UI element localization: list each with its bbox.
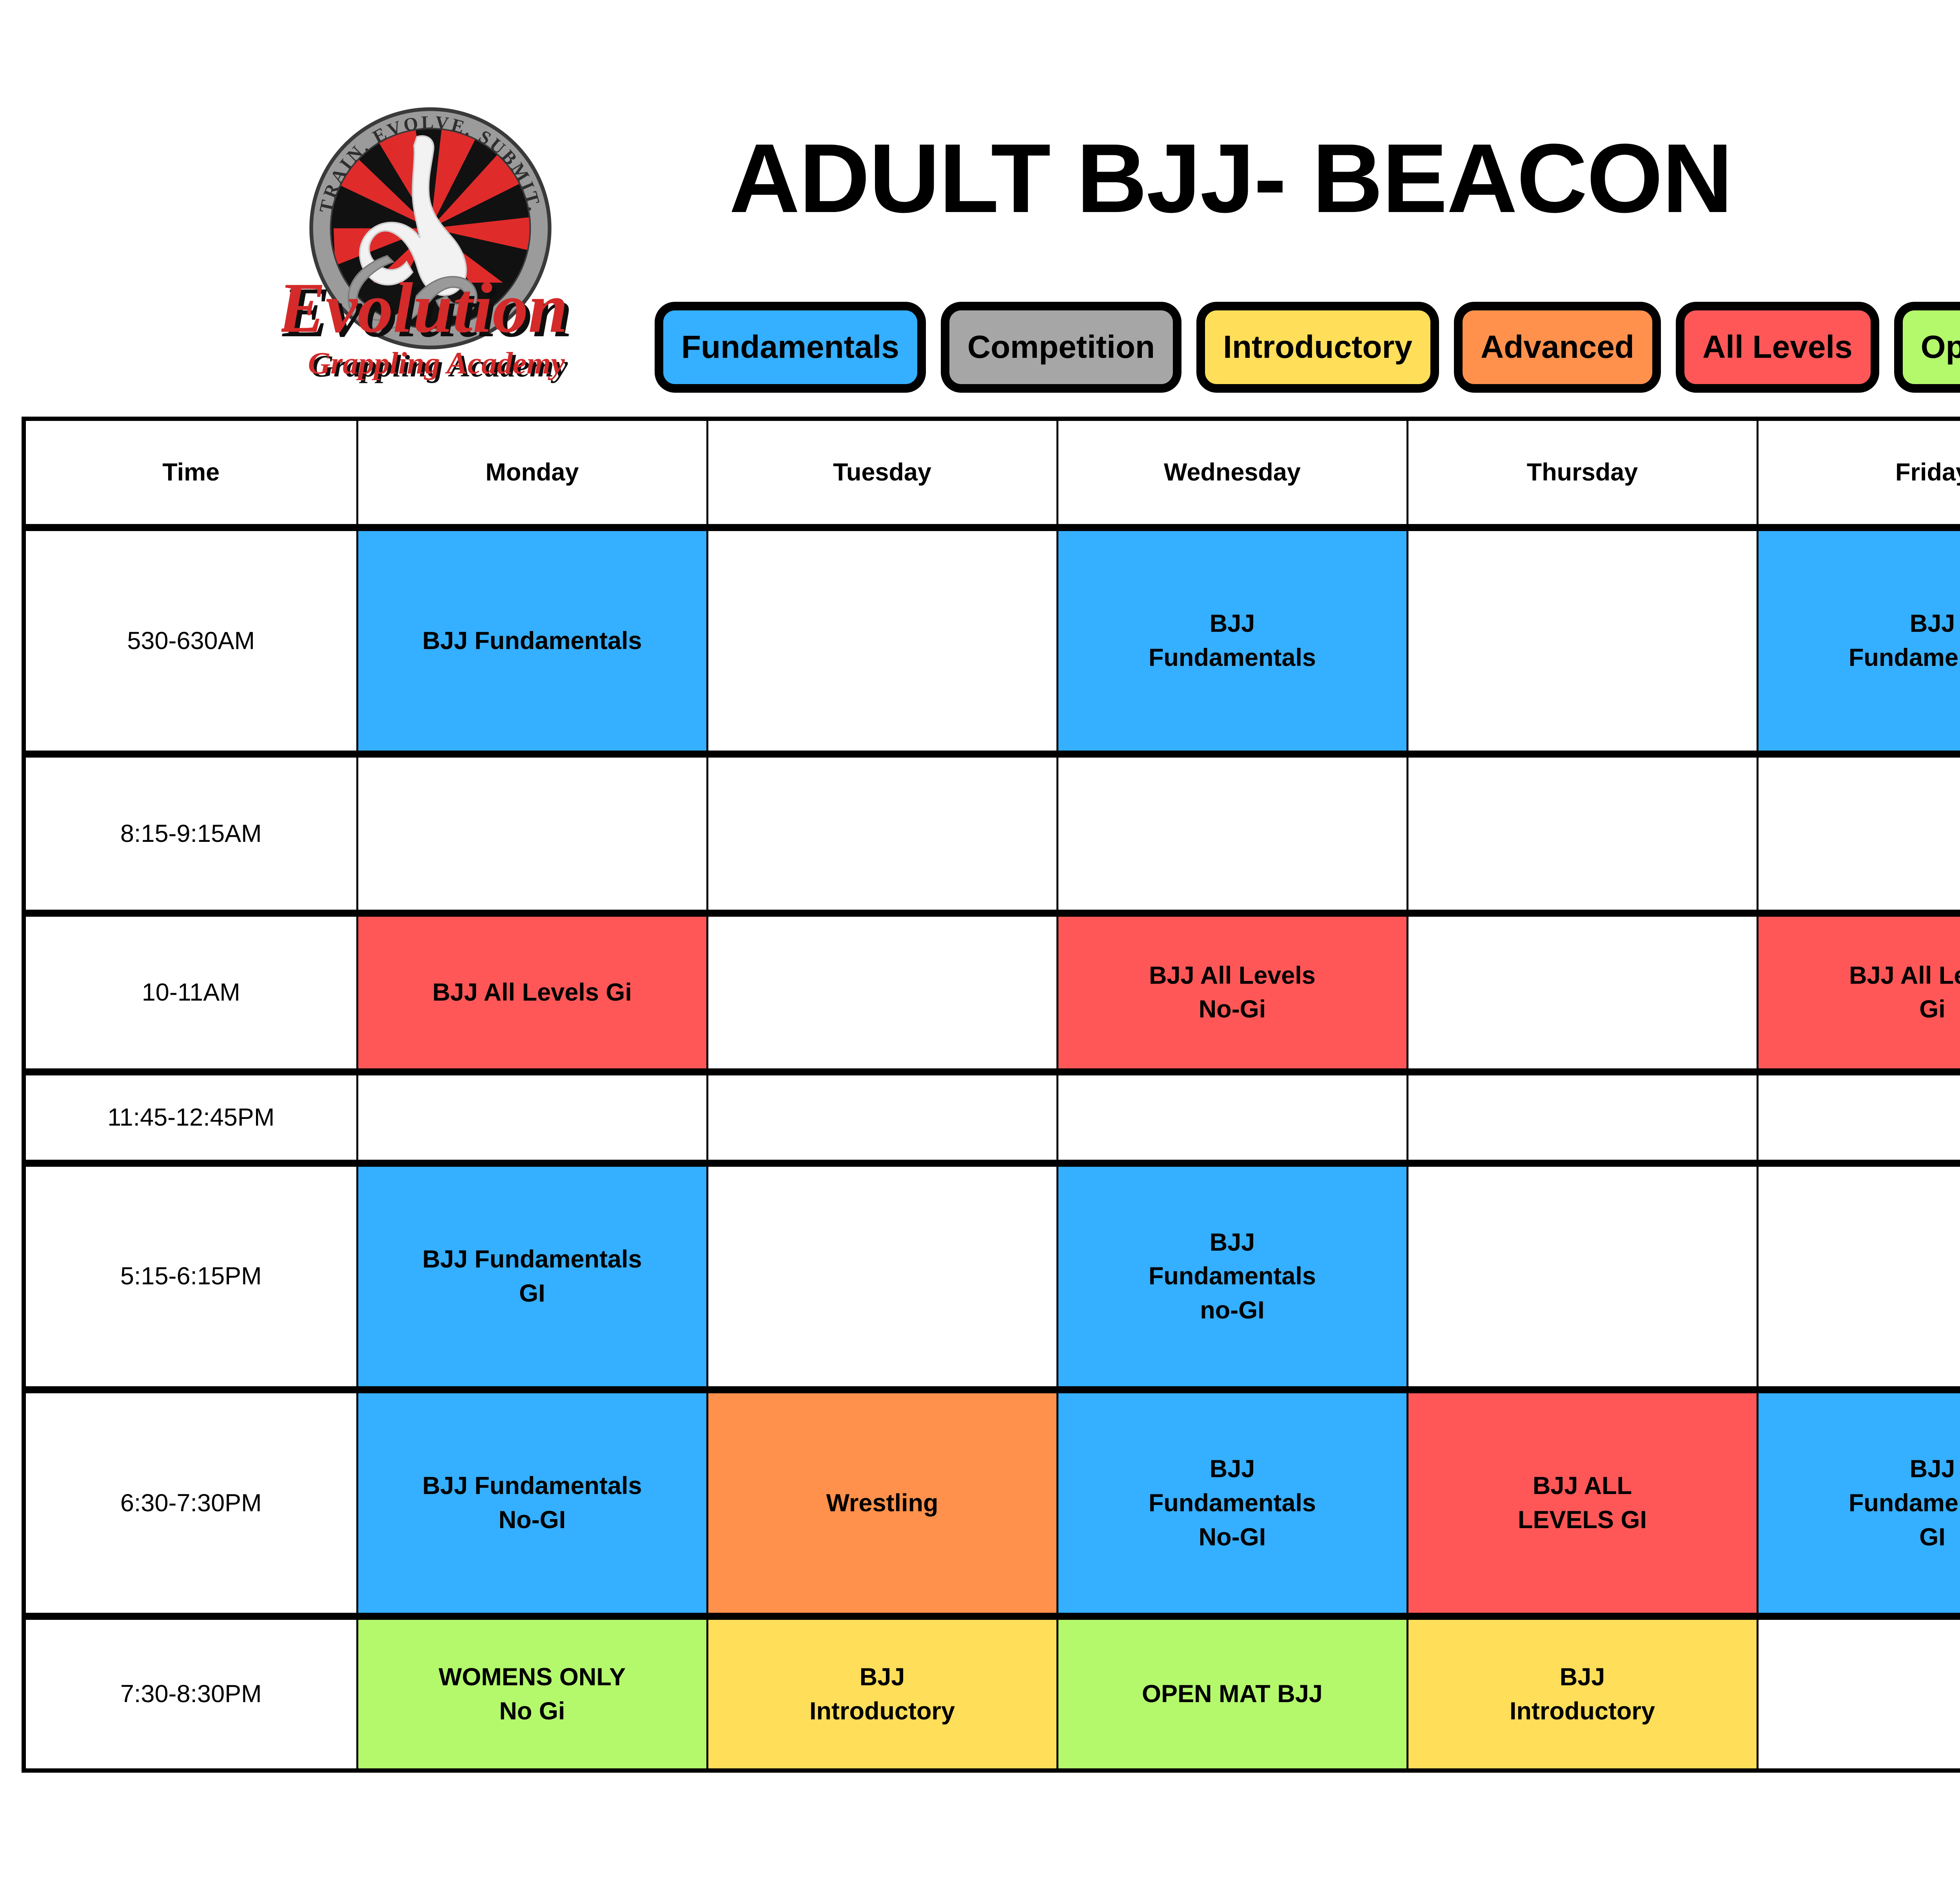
time-slot-label: 530-630AM — [26, 528, 357, 754]
column-header-monday: Monday — [357, 421, 707, 528]
schedule-row: 10-11AMBJJ All Levels GiBJJ All LevelsNo… — [26, 913, 1960, 1072]
class-cell-line: Wrestling — [712, 1486, 1053, 1520]
academy-logo: TRAIN. EVOLVE. SUBMIT. Evolution Evoluti… — [281, 90, 579, 404]
schedule-row: 5:15-6:15PMBJJ FundamentalsGIBJJFundamen… — [26, 1163, 1960, 1390]
class-cell-text: BJJ ALLLEVELS GI — [1412, 1469, 1753, 1537]
legend-pill-label: Competition — [967, 329, 1155, 366]
class-cell-line: GI — [1762, 1520, 1960, 1554]
class-cell-text: BJJ FundamentalsGI — [362, 1242, 702, 1311]
empty-cell — [357, 1072, 707, 1163]
class-cell[interactable]: BJJIntroductory — [1407, 1616, 1757, 1768]
time-slot-label: 7:30-8:30PM — [26, 1616, 357, 1768]
empty-cell — [707, 913, 1057, 1072]
class-cell-text: BJJFundamentalsNo-GI — [1062, 1452, 1403, 1554]
empty-cell — [1407, 1072, 1757, 1163]
class-cell-line: BJJ — [1762, 1452, 1960, 1486]
class-cell-text: BJJFundamentalsGI — [1762, 1452, 1960, 1554]
legend-pill-all-levels[interactable]: All Levels — [1676, 302, 1879, 393]
time-slot-label: 10-11AM — [26, 913, 357, 1072]
time-slot-label: 5:15-6:15PM — [26, 1163, 357, 1390]
column-header-friday: Friday — [1757, 421, 1960, 528]
table-header: TimeMondayTuesdayWednesdayThursdayFriday… — [26, 421, 1960, 528]
empty-cell — [1757, 754, 1960, 913]
time-slot-label: 6:30-7:30PM — [26, 1390, 357, 1616]
class-cell[interactable]: BJJFundamentalsno-GI — [1057, 1163, 1407, 1390]
legend-pill-fundamentals[interactable]: Fundamentals — [655, 302, 926, 393]
class-cell[interactable]: WOMENS ONLYNo Gi — [357, 1616, 707, 1768]
legend-pill-introductory[interactable]: Introductory — [1196, 302, 1439, 393]
class-cell-line: No-Gi — [1062, 992, 1403, 1026]
class-cell-line: Fundamentals — [1062, 641, 1403, 675]
class-cell-line: BJJ Fundamentals — [362, 1469, 702, 1503]
class-cell-line: BJJ — [1062, 1452, 1403, 1486]
class-cell[interactable]: BJJ FundamentalsNo-GI — [357, 1390, 707, 1616]
class-cell-line: BJJ All Levels — [1762, 959, 1960, 993]
class-cell-text: BJJFundamentalsno-GI — [1062, 1226, 1403, 1328]
class-cell-line: BJJ ALL — [1412, 1469, 1753, 1503]
class-cell[interactable]: BJJFundamentals — [1057, 528, 1407, 754]
class-cell-line: no-GI — [1062, 1293, 1403, 1327]
empty-cell — [1407, 1163, 1757, 1390]
column-header-tuesday: Tuesday — [707, 421, 1057, 528]
class-cell-text: BJJFundamentals — [1062, 607, 1403, 675]
empty-cell — [1757, 1616, 1960, 1768]
class-type-legend: FundamentalsCompetitionIntroductoryAdvan… — [655, 302, 1960, 393]
empty-cell — [707, 528, 1057, 754]
class-cell[interactable]: BJJ All LevelsNo-Gi — [1057, 913, 1407, 1072]
page-header: TRAIN. EVOLVE. SUBMIT. Evolution Evoluti… — [0, 47, 1960, 372]
legend-pill-label: All Levels — [1702, 329, 1853, 366]
class-cell[interactable]: BJJ All Levels Gi — [357, 913, 707, 1072]
schedule-row: 530-630AMBJJ FundamentalsBJJFundamentals… — [26, 528, 1960, 754]
class-cell-line: BJJ Fundamentals — [362, 624, 702, 658]
empty-cell — [1057, 1072, 1407, 1163]
class-cell-line: BJJ — [1412, 1660, 1753, 1694]
legend-pill-open-mat[interactable]: Open Mat — [1894, 302, 1960, 393]
time-slot-label: 8:15-9:15AM — [26, 754, 357, 913]
class-cell-text: BJJFundamentals — [1762, 607, 1960, 675]
class-cell-line: Introductory — [712, 1694, 1053, 1728]
legend-pill-label: Open Mat — [1921, 329, 1960, 366]
schedule-page: TRAIN. EVOLVE. SUBMIT. Evolution Evoluti… — [0, 0, 1960, 1893]
class-cell-line: BJJ Fundamentals — [362, 1242, 702, 1277]
column-header-wednesday: Wednesday — [1057, 421, 1407, 528]
class-cell-text: BJJIntroductory — [712, 1660, 1053, 1728]
empty-cell — [707, 1163, 1057, 1390]
class-cell-line: BJJ All Levels Gi — [362, 976, 702, 1010]
class-cell[interactable]: BJJFundamentalsNo-GI — [1057, 1390, 1407, 1616]
svg-text:Grappling Academy: Grappling Academy — [308, 346, 565, 381]
class-cell-line: LEVELS GI — [1412, 1503, 1753, 1537]
empty-cell — [357, 754, 707, 913]
class-cell-line: WOMENS ONLY — [362, 1660, 702, 1694]
legend-pill-competition[interactable]: Competition — [941, 302, 1181, 393]
empty-cell — [1407, 754, 1757, 913]
class-cell-text: BJJ Fundamentals — [362, 624, 702, 658]
class-cell-line: GI — [362, 1277, 702, 1311]
page-title: ADULT BJJ- BEACON — [729, 125, 1960, 231]
schedule-row: 8:15-9:15AMWomens OnlyQ&A Open Mat — [26, 754, 1960, 913]
class-cell-line: Gi — [1762, 992, 1960, 1026]
class-cell-text: BJJ All Levels Gi — [362, 976, 702, 1010]
svg-text:Evolution: Evolution — [281, 268, 568, 348]
class-cell[interactable]: BJJIntroductory — [707, 1616, 1057, 1768]
class-cell-line: BJJ — [1062, 1226, 1403, 1260]
schedule-row: 6:30-7:30PMBJJ FundamentalsNo-GIWrestlin… — [26, 1390, 1960, 1616]
class-cell-text: BJJIntroductory — [1412, 1660, 1753, 1728]
class-cell-text: OPEN MAT BJJ — [1062, 1677, 1403, 1711]
schedule-table-container: TimeMondayTuesdayWednesdayThursdayFriday… — [22, 417, 1960, 1773]
legend-pill-label: Introductory — [1223, 329, 1412, 366]
empty-cell — [707, 754, 1057, 913]
class-cell-line: BJJ — [1062, 607, 1403, 641]
class-cell[interactable]: BJJFundamentals — [1757, 528, 1960, 754]
class-cell[interactable]: BJJFundamentalsGI — [1757, 1390, 1960, 1616]
time-slot-label: 11:45-12:45PM — [26, 1072, 357, 1163]
column-header-thursday: Thursday — [1407, 421, 1757, 528]
class-cell-line: BJJ — [1762, 607, 1960, 641]
class-cell-line: Fundamentals — [1762, 641, 1960, 675]
class-cell-text: WOMENS ONLYNo Gi — [362, 1660, 702, 1728]
empty-cell — [1057, 754, 1407, 913]
schedule-row: 11:45-12:45PMBJJ All Levels Gi — [26, 1072, 1960, 1163]
class-cell-line: BJJ — [712, 1660, 1053, 1694]
class-cell-line: Fundamentals — [1062, 1259, 1403, 1293]
table-body: 530-630AMBJJ FundamentalsBJJFundamentals… — [26, 528, 1960, 1768]
header-row: TimeMondayTuesdayWednesdayThursdayFriday… — [26, 421, 1960, 528]
class-cell-text: BJJ All LevelsGi — [1762, 959, 1960, 1027]
empty-cell — [1407, 913, 1757, 1072]
class-cell-text: BJJ All LevelsNo-Gi — [1062, 959, 1403, 1027]
class-cell-text: Wrestling — [712, 1486, 1053, 1520]
class-cell-line: No Gi — [362, 1694, 702, 1728]
schedule-row: 7:30-8:30PMWOMENS ONLYNo GiBJJIntroducto… — [26, 1616, 1960, 1768]
empty-cell — [1757, 1072, 1960, 1163]
class-cell[interactable]: Wrestling — [707, 1390, 1057, 1616]
class-cell-line: Fundamentals — [1062, 1486, 1403, 1520]
class-cell-text: BJJ FundamentalsNo-GI — [362, 1469, 702, 1537]
class-cell[interactable]: OPEN MAT BJJ — [1057, 1616, 1407, 1768]
class-cell-line: Fundamentals — [1762, 1486, 1960, 1520]
class-cell[interactable]: BJJ All LevelsGi — [1757, 913, 1960, 1072]
class-cell-line: Introductory — [1412, 1694, 1753, 1728]
class-cell-line: No-GI — [362, 1503, 702, 1537]
class-cell-line: No-GI — [1062, 1520, 1403, 1554]
column-header-time: Time — [26, 421, 357, 528]
class-cell[interactable]: BJJ ALLLEVELS GI — [1407, 1390, 1757, 1616]
class-cell-line: BJJ All Levels — [1062, 959, 1403, 993]
legend-pill-advanced[interactable]: Advanced — [1454, 302, 1661, 393]
legend-pill-label: Advanced — [1481, 329, 1634, 366]
class-cell[interactable]: BJJ Fundamentals — [357, 528, 707, 754]
evolution-grappling-academy-logo-icon: TRAIN. EVOLVE. SUBMIT. Evolution Evoluti… — [281, 90, 579, 404]
empty-cell — [707, 1072, 1057, 1163]
empty-cell — [1407, 528, 1757, 754]
empty-cell — [1757, 1163, 1960, 1390]
class-cell-line: OPEN MAT BJJ — [1062, 1677, 1403, 1711]
class-cell[interactable]: BJJ FundamentalsGI — [357, 1163, 707, 1390]
legend-pill-label: Fundamentals — [681, 329, 899, 366]
weekly-schedule-table: TimeMondayTuesdayWednesdayThursdayFriday… — [26, 421, 1960, 1768]
